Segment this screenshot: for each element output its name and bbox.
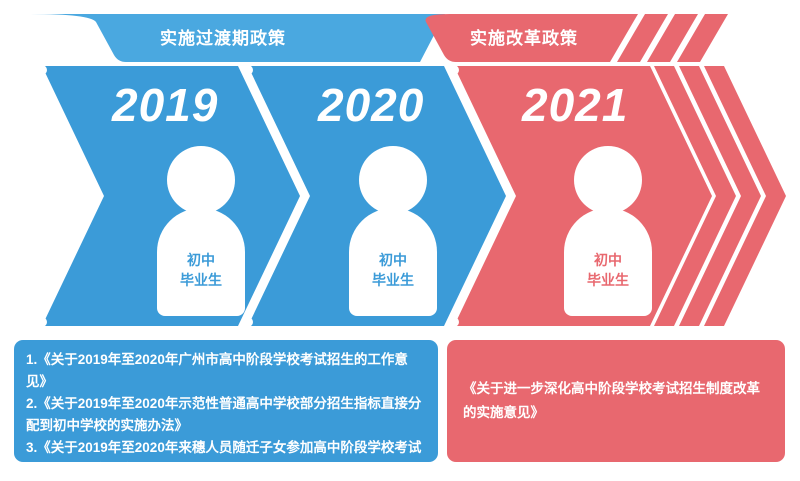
note-line-transition-2: 2.《关于2019年至2020年示范性普通高中学校部分招生指标直接分配到初中学校…	[26, 393, 426, 437]
person-head-icon	[167, 146, 235, 214]
person-caption-2019: 初中 毕业生	[153, 250, 249, 290]
person-head-icon	[359, 146, 427, 214]
note-box-transition: 1.《关于2019年至2020年广州市高中阶段学校考试招生的工作意见》 2.《关…	[14, 340, 438, 462]
note-line-transition-3: 3.《关于2019年至2020年来穗人员随迁子女参加高中阶段学校考试招生工作的实…	[26, 437, 426, 481]
infographic-canvas: 实施过渡期政策 实施改革政策 2019 2020 2021 初中 毕业生 初中 …	[0, 0, 800, 480]
banner-label-reform: 实施改革政策	[470, 24, 578, 49]
note-box-reform: 《关于进一步深化高中阶段学校考试招生制度改革的实施意见》	[447, 340, 785, 462]
year-label-2019: 2019	[112, 78, 218, 132]
person-icon-2020: 初中 毕业生	[345, 146, 441, 316]
note-line-reform-1: 《关于进一步深化高中阶段学校考试招生制度改革的实施意见》	[463, 377, 769, 425]
person-caption-2021: 初中 毕业生	[560, 250, 656, 290]
person-icon-2021: 初中 毕业生	[560, 146, 656, 316]
year-label-2020: 2020	[318, 78, 424, 132]
person-icon-2019: 初中 毕业生	[153, 146, 249, 316]
person-head-icon	[574, 146, 642, 214]
person-caption-2020: 初中 毕业生	[345, 250, 441, 290]
year-label-2021: 2021	[522, 78, 628, 132]
note-line-transition-1: 1.《关于2019年至2020年广州市高中阶段学校考试招生的工作意见》	[26, 349, 426, 393]
banner-label-transition: 实施过渡期政策	[160, 24, 286, 49]
